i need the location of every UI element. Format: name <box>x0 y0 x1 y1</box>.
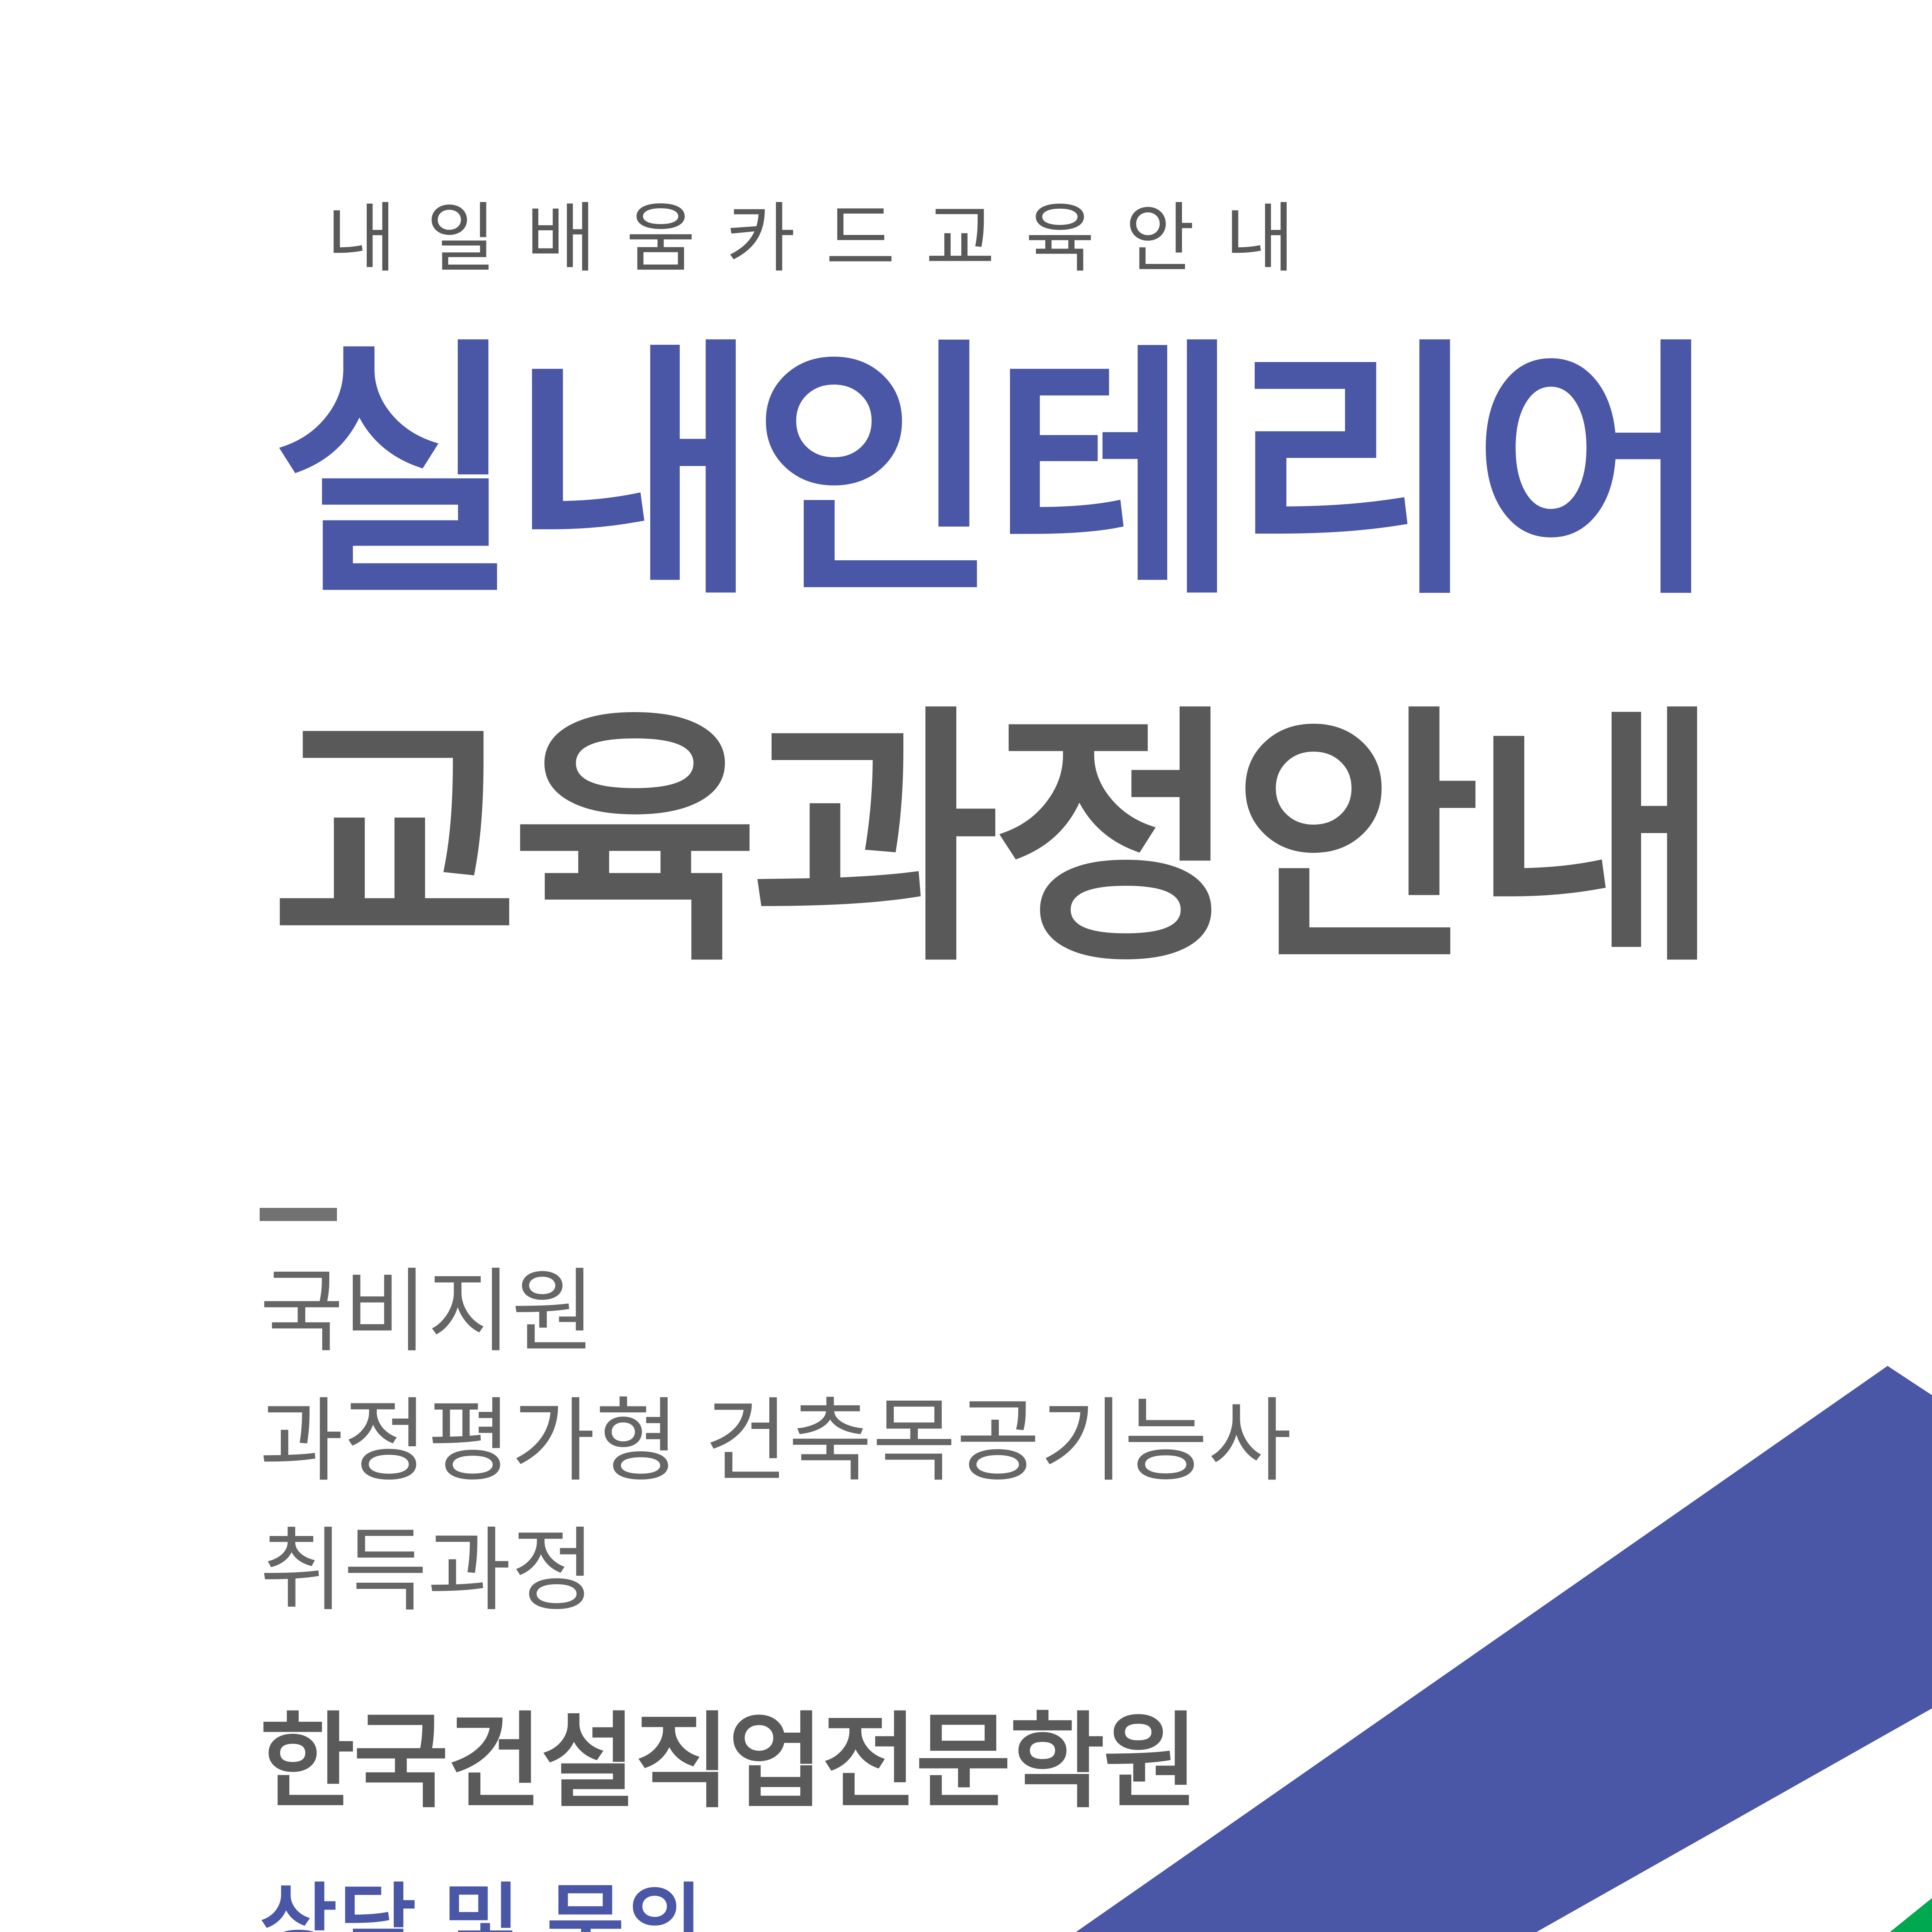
course-description-line-1: 국비지원 <box>260 1247 1292 1377</box>
course-description-line-2: 과정평가형 건축목공기능사 <box>260 1377 1292 1506</box>
eyebrow-tagline: 내일배움카드교육안내 <box>327 201 1325 277</box>
poster-canvas: 내일배움카드교육안내 실내인테리어 교육과정안내 국비지원 과정평가형 건축목공… <box>0 0 1932 1932</box>
course-description-line-3: 취득과정 <box>260 1506 1292 1636</box>
section-divider-rule <box>260 1208 337 1221</box>
course-description-block: 국비지원 과정평가형 건축목공기능사 취득과정 <box>260 1247 1292 1636</box>
headline-line-1: 실내인테리어 <box>270 344 1713 604</box>
headline-line-2: 교육과정안내 <box>270 711 1713 971</box>
organization-name: 한국건설직업전문학원 <box>260 1710 1197 1813</box>
contact-label: 상담 및 문의 <box>260 1882 705 1932</box>
